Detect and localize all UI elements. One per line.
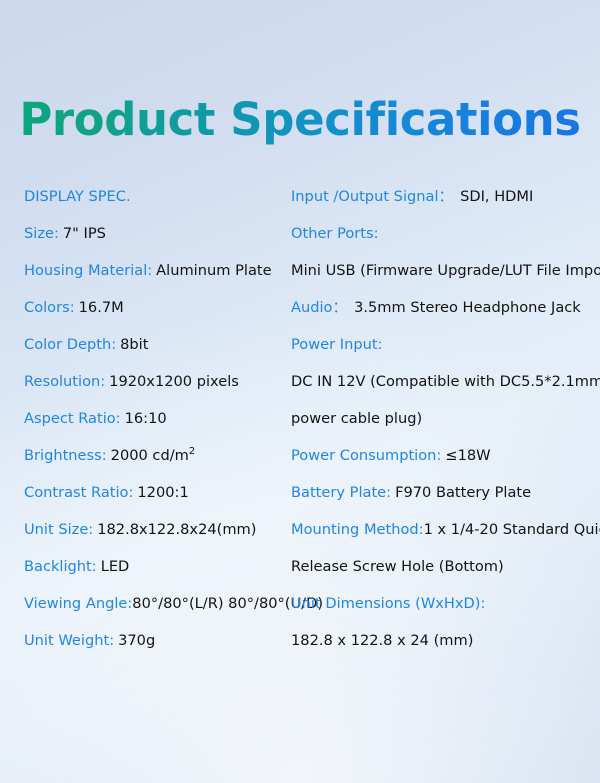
io-power-spec-row: Audio：3.5mm Stereo Headphone Jack bbox=[291, 297, 591, 334]
display-spec-label: Unit Weight: bbox=[24, 630, 114, 652]
io-power-spec-label: Audio： bbox=[291, 297, 347, 319]
io-power-spec-value: 3.5mm Stereo Headphone Jack bbox=[354, 297, 581, 319]
io-power-spec-value: Release Screw Hole (Bottom) bbox=[291, 556, 504, 578]
display-spec-label: Size: bbox=[24, 223, 59, 245]
display-spec-row: Resolution:1920x1200 pixels bbox=[24, 371, 286, 408]
display-spec-label: Housing Material: bbox=[24, 260, 152, 282]
display-spec-row: Housing Material:Aluminum Plate bbox=[24, 260, 286, 297]
display-spec-column: DISPLAY SPEC.Size:7" IPSHousing Material… bbox=[24, 186, 286, 667]
display-spec-label: Aspect Ratio: bbox=[24, 408, 121, 430]
io-power-spec-label: Power Input: bbox=[291, 334, 382, 356]
io-power-spec-value: SDI, HDMI bbox=[460, 186, 533, 208]
io-power-spec-label: Mounting Method: bbox=[291, 519, 424, 541]
io-power-spec-row: Mini USB (Firmware Upgrade/LUT File Impo… bbox=[291, 260, 591, 297]
io-power-spec-value: F970 Battery Plate bbox=[395, 482, 531, 504]
io-power-spec-row: Unit Dimensions (WxHxD): bbox=[291, 593, 591, 630]
display-spec-row: Backlight:LED bbox=[24, 556, 286, 593]
display-spec-value: Aluminum Plate bbox=[156, 260, 271, 282]
display-spec-label: DISPLAY SPEC. bbox=[24, 186, 131, 208]
io-power-spec-row: Other Ports: bbox=[291, 223, 591, 260]
display-spec-label: Viewing Angle: bbox=[24, 593, 132, 615]
display-spec-row: Brightness:2000 cd/m2 bbox=[24, 445, 286, 482]
display-spec-value: 8bit bbox=[120, 334, 148, 356]
display-spec-label: Colors: bbox=[24, 297, 75, 319]
display-spec-value: LED bbox=[101, 556, 130, 578]
io-power-spec-label: Unit Dimensions (WxHxD): bbox=[291, 593, 485, 615]
display-spec-value: 370g bbox=[118, 630, 155, 652]
display-spec-value: 16:10 bbox=[125, 408, 167, 430]
display-spec-value: 2000 cd/m2 bbox=[111, 445, 196, 467]
display-spec-label: Color Depth: bbox=[24, 334, 116, 356]
io-power-spec-row: Release Screw Hole (Bottom) bbox=[291, 556, 591, 593]
display-spec-row: Colors:16.7M bbox=[24, 297, 286, 334]
io-power-spec-value: ≤18W bbox=[445, 445, 490, 467]
display-spec-label: Brightness: bbox=[24, 445, 107, 467]
display-spec-row: DISPLAY SPEC. bbox=[24, 186, 286, 223]
io-power-spec-label: Other Ports: bbox=[291, 223, 379, 245]
display-spec-label: Unit Size: bbox=[24, 519, 93, 541]
io-power-spec-row: Mounting Method:1 x 1/4-20 Standard Quic… bbox=[291, 519, 591, 556]
io-power-spec-label: Power Consumption: bbox=[291, 445, 441, 467]
display-spec-row: Viewing Angle:80°/80°(L/R) 80°/80°(U/D) bbox=[24, 593, 286, 630]
display-spec-label: Resolution: bbox=[24, 371, 105, 393]
io-power-spec-value: DC IN 12V (Compatible with DC5.5*2.1mm bbox=[291, 371, 600, 393]
io-power-spec-row: power cable plug) bbox=[291, 408, 591, 445]
page-title-container: Product Specifications bbox=[0, 96, 600, 145]
io-power-spec-label: Input /Output Signal： bbox=[291, 186, 453, 208]
io-power-spec-row: Power Consumption:≤18W bbox=[291, 445, 591, 482]
display-spec-row: Unit Size:182.8x122.8x24(mm) bbox=[24, 519, 286, 556]
io-power-spec-row: 182.8 x 122.8 x 24 (mm) bbox=[291, 630, 591, 667]
io-power-spec-row: Input /Output Signal：SDI, HDMI bbox=[291, 186, 591, 223]
display-spec-row: Color Depth:8bit bbox=[24, 334, 286, 371]
io-power-spec-row: Battery Plate:F970 Battery Plate bbox=[291, 482, 591, 519]
display-spec-row: Aspect Ratio:16:10 bbox=[24, 408, 286, 445]
specification-sheet: Product Specifications DISPLAY SPEC.Size… bbox=[0, 0, 600, 783]
display-spec-label: Contrast Ratio: bbox=[24, 482, 133, 504]
display-spec-value: 1920x1200 pixels bbox=[109, 371, 239, 393]
specs-columns: DISPLAY SPEC.Size:7" IPSHousing Material… bbox=[0, 186, 600, 686]
display-spec-label: Backlight: bbox=[24, 556, 97, 578]
io-power-spec-row: Power Input: bbox=[291, 334, 591, 371]
page-title: Product Specifications bbox=[19, 96, 580, 145]
io-power-spec-value: power cable plug) bbox=[291, 408, 422, 430]
display-spec-row: Unit Weight:370g bbox=[24, 630, 286, 667]
display-spec-row: Contrast Ratio:1200:1 bbox=[24, 482, 286, 519]
display-spec-value: 7" IPS bbox=[63, 223, 106, 245]
io-power-spec-column: Input /Output Signal：SDI, HDMIOther Port… bbox=[291, 186, 591, 667]
io-power-spec-value: 1 x 1/4-20 Standard Quick bbox=[424, 519, 600, 541]
display-spec-value: 16.7M bbox=[79, 297, 124, 319]
display-spec-value: 182.8x122.8x24(mm) bbox=[97, 519, 256, 541]
display-spec-row: Size:7" IPS bbox=[24, 223, 286, 260]
io-power-spec-row: DC IN 12V (Compatible with DC5.5*2.1mm bbox=[291, 371, 591, 408]
io-power-spec-value: 182.8 x 122.8 x 24 (mm) bbox=[291, 630, 473, 652]
io-power-spec-value: Mini USB (Firmware Upgrade/LUT File Impo… bbox=[291, 260, 600, 282]
display-spec-value: 1200:1 bbox=[137, 482, 188, 504]
io-power-spec-label: Battery Plate: bbox=[291, 482, 391, 504]
